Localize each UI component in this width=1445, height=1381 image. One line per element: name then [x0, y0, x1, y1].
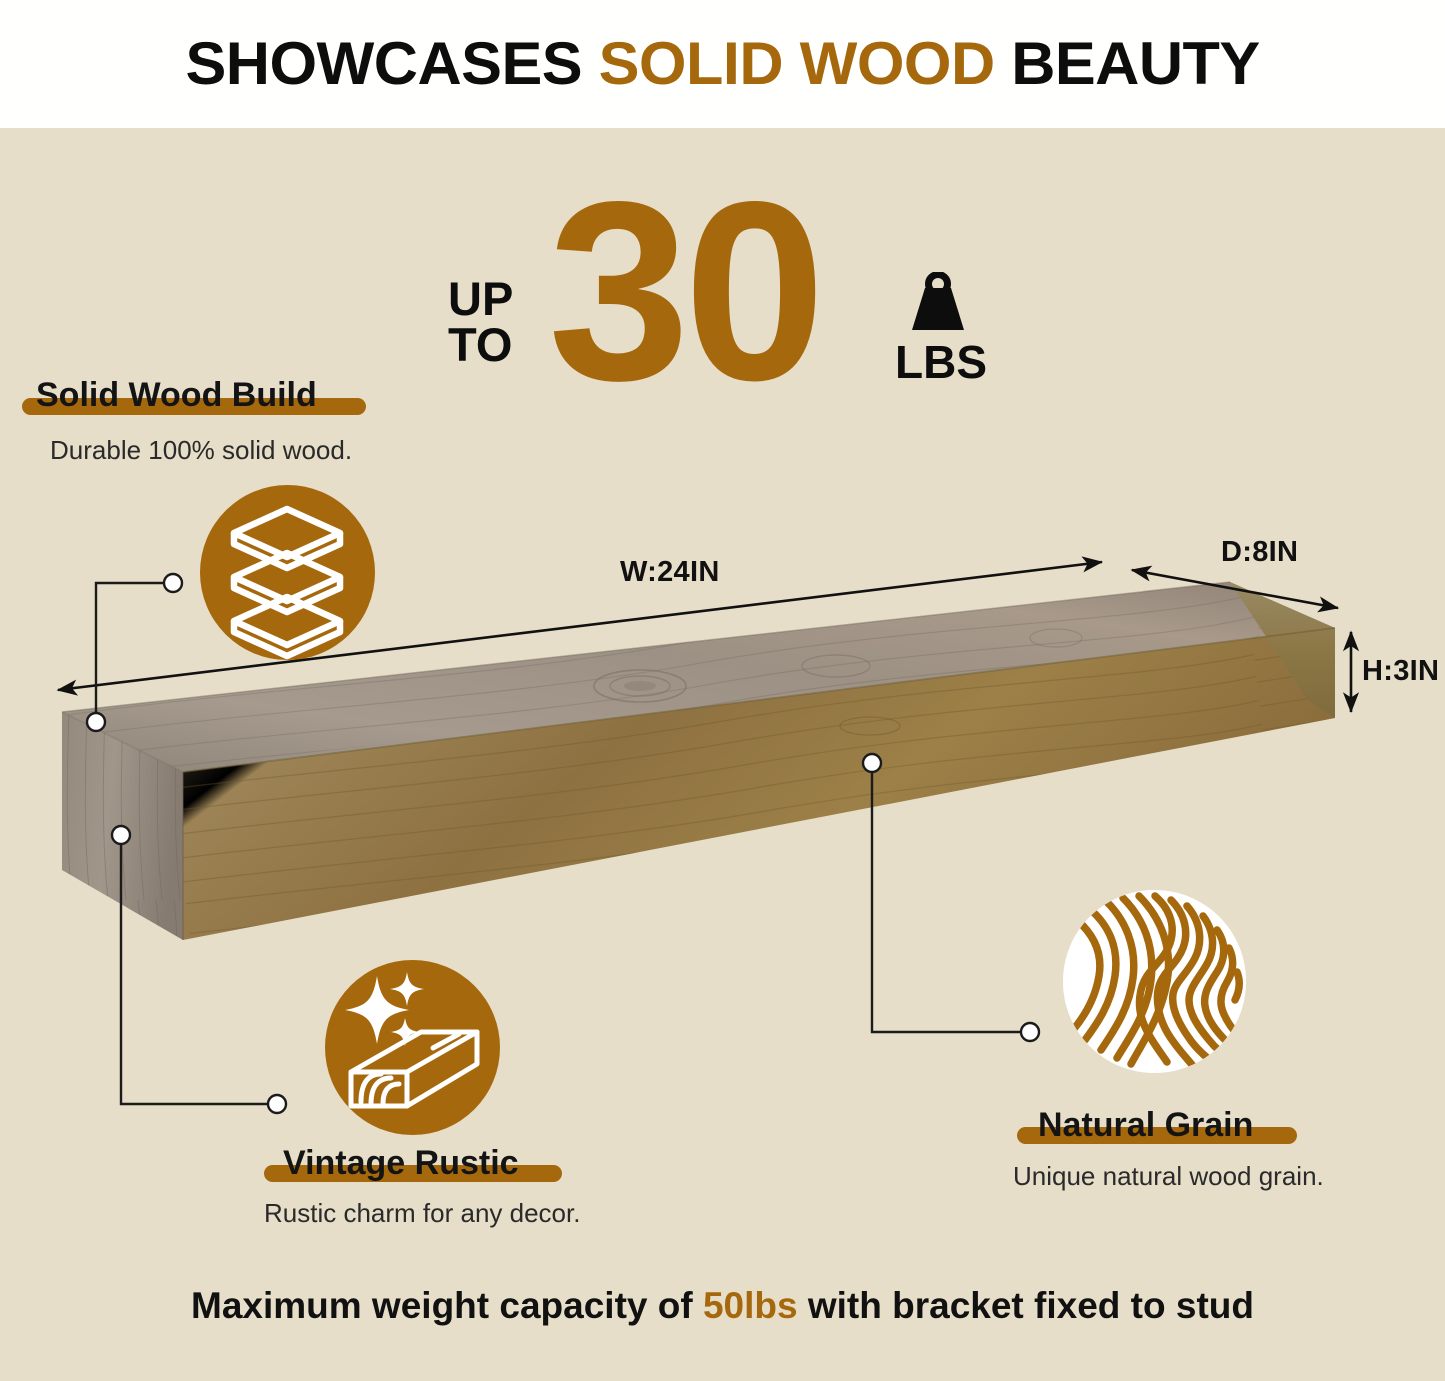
feature-subtitle-solid-wood-build: Durable 100% solid wood. — [50, 437, 352, 463]
page-title: SHOWCASES SOLID WOOD BEAUTY — [185, 34, 1259, 94]
wood-grain-icon — [1063, 890, 1246, 1073]
up-to-label: UP TO — [448, 276, 513, 368]
bottom-caption-before: Maximum weight capacity of — [191, 1285, 703, 1326]
title-segment-showcases: SHOWCASES — [185, 30, 598, 97]
bottom-caption-after: with bracket fixed to stud — [798, 1285, 1254, 1326]
wood-plank-sparkle-icon — [325, 960, 500, 1135]
feature-subtitle-vintage-rustic: Rustic charm for any decor. — [264, 1200, 580, 1226]
bottom-caption-highlight: 50lbs — [703, 1285, 798, 1326]
up-word: UP — [448, 272, 513, 325]
feature-title-solid-wood-build: Solid Wood Build — [36, 378, 317, 412]
bottom-caption: Maximum weight capacity of 50lbs with br… — [0, 1285, 1445, 1327]
feature-title-natural-grain: Natural Grain — [1038, 1108, 1253, 1142]
title-segment-solid-wood: SOLID WOOD — [599, 30, 995, 97]
title-segment-beauty: BEAUTY — [995, 30, 1260, 97]
feature-subtitle-natural-grain: Unique natural wood grain. — [1013, 1163, 1324, 1189]
weight-capacity-callout: UP TO 30 LBS — [440, 180, 1020, 410]
capacity-unit: LBS — [895, 335, 987, 389]
header-band: SHOWCASES SOLID WOOD BEAUTY — [0, 0, 1445, 128]
weight-icon — [902, 272, 974, 334]
capacity-number: 30 — [548, 164, 820, 419]
infographic-page: SHOWCASES SOLID WOOD BEAUTY — [0, 0, 1445, 1381]
feature-title-vintage-rustic: Vintage Rustic — [283, 1146, 519, 1180]
height-dimension-label: H:3IN — [1362, 655, 1439, 688]
depth-dimension-label: D:8IN — [1221, 536, 1298, 569]
width-dimension-label: W:24IN — [620, 556, 720, 589]
stacked-boards-icon — [200, 485, 375, 660]
to-word: TO — [448, 318, 512, 371]
